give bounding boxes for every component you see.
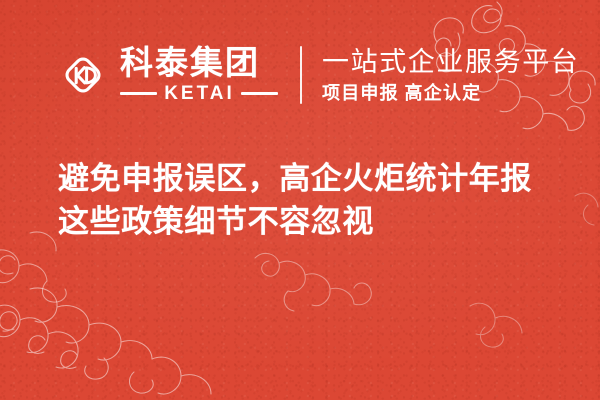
tagline-main: 一站式企业服务平台 xyxy=(322,48,579,76)
headline-line-1: 避免申报误区，高企火炬统计年报 xyxy=(58,157,532,200)
brand-name-en-row: KETAI xyxy=(120,84,278,103)
tagline-sub: 项目申报 高企认定 xyxy=(322,84,579,102)
brand-rule-right-icon xyxy=(241,92,278,95)
brand-rule-left-icon xyxy=(120,92,157,95)
tagline-block: 一站式企业服务平台 项目申报 高企认定 xyxy=(322,48,579,102)
brand-name-cn: 科泰集团 xyxy=(120,46,278,79)
vertical-divider-icon xyxy=(300,46,302,104)
brand-name-en: KETAI xyxy=(157,84,241,103)
poster-header: 科泰集团 KETAI 一站式企业服务平台 项目申报 高企认定 xyxy=(57,38,579,112)
brand-lockup: 科泰集团 KETAI xyxy=(120,46,278,104)
headline-line-2: 这些政策细节不容忽视 xyxy=(58,200,532,243)
poster-canvas: 科泰集团 KETAI 一站式企业服务平台 项目申报 高企认定 避免申报误区，高企… xyxy=(0,0,600,400)
headline-block: 避免申报误区，高企火炬统计年报 这些政策细节不容忽视 xyxy=(58,157,532,243)
ketai-diamond-logo-icon xyxy=(57,49,109,101)
